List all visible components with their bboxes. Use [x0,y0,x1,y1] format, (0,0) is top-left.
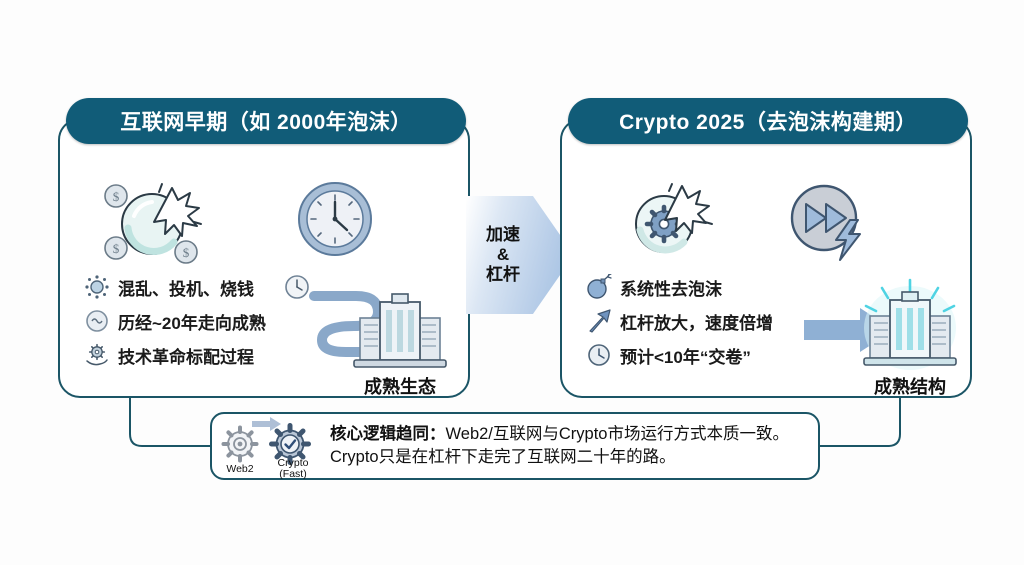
gear-in-bursting-bubble-icon [624,176,720,269]
trend-up-arrow-icon [584,306,614,336]
summary-line-1: 核心逻辑趋同：Web2/互联网与Crypto市场运行方式本质一致。 [330,423,806,446]
svg-text:$: $ [113,189,120,204]
bomb-icon [584,272,614,302]
summary-box: Web2 Crypto (Fast) 核心逻辑趋同：Web2/互联网与Crypt… [210,412,820,480]
infographic-canvas: 互联网早期（如 2000年泡沫） $$$ [0,0,1024,565]
center-arrow-line3: 杠杆 [466,265,540,285]
center-accelerate-arrow: 加速 & 杠杆 [466,196,574,314]
office-building-icon [346,357,454,374]
list-item: 系统性去泡沫 [584,270,814,304]
center-arrow-text: 加速 & 杠杆 [466,225,540,285]
list-item-label: 预计<10年“交卷” [620,343,751,368]
list-item: 杠杆放大，速度倍增 [584,304,814,338]
right-panel-title: Crypto 2025（去泡沫构建期） [568,98,968,144]
center-arrow-line1: 加速 [466,225,540,245]
svg-text:$: $ [113,241,120,256]
gear-caption-crypto: Crypto (Fast) [264,458,322,480]
panel-internet-early: 互联网早期（如 2000年泡沫） $$$ [58,118,470,398]
list-item-label: 系统性去泡沫 [620,275,722,300]
right-icon-row [562,172,970,264]
gear-on-hand-icon [82,340,112,370]
summary-lead: 核心逻辑趋同： [330,425,446,443]
center-arrow-line2: & [466,245,540,265]
list-item-label: 历经~20年走向成熟 [118,309,266,334]
left-bullet-list: 混乱、投机、烧钱 历经~20年走向成熟 [82,270,312,372]
fast-forward-lightning-icon [784,178,876,269]
right-outcome: 成熟结构 [850,278,970,399]
gear-caption-web2: Web2 [216,464,264,475]
right-outcome-label: 成熟结构 [850,373,970,399]
gear-caption-crypto-line2: (Fast) [279,468,306,480]
summary-text: 核心逻辑趋同：Web2/互联网与Crypto市场运行方式本质一致。 Crypto… [330,423,818,469]
list-item: 历经~20年走向成熟 [82,304,312,338]
wall-clock-icon [292,176,378,267]
list-item-label: 杠杆放大，速度倍增 [620,309,773,334]
svg-text:$: $ [183,245,190,260]
left-icon-row: $$$ [60,172,468,264]
left-panel-title: 互联网早期（如 2000年泡沫） [66,98,466,144]
summary-text-line1: Web2/互联网与Crypto市场运行方式本质一致。 [446,425,790,443]
list-item: 技术革命标配过程 [82,338,312,372]
glowing-building-icon [852,357,968,374]
bursting-bubble-with-dollars-icon: $$$ [102,172,210,273]
summary-gear-icons: Web2 Crypto (Fast) [212,414,330,478]
chaos-sparkle-icon [82,272,112,302]
left-outcome-label: 成熟生态 [340,373,460,399]
list-item-label: 混乱、投机、烧钱 [118,275,254,300]
clock-small-icon [584,340,614,370]
right-bullet-list: 系统性去泡沫 杠杆放大，速度倍增 预计<10年“ [584,270,814,372]
summary-text-line2: Crypto只是在杠杆下走完了互联网二十年的路。 [330,446,806,469]
list-item: 预计<10年“交卷” [584,338,814,372]
panel-crypto-2025: Crypto 2025（去泡沫构建期） [560,118,972,398]
list-item-label: 技术革命标配过程 [118,343,254,368]
left-outcome: 成熟生态 [340,290,460,399]
list-item: 混乱、投机、烧钱 [82,270,312,304]
clock-small-icon [82,306,112,336]
